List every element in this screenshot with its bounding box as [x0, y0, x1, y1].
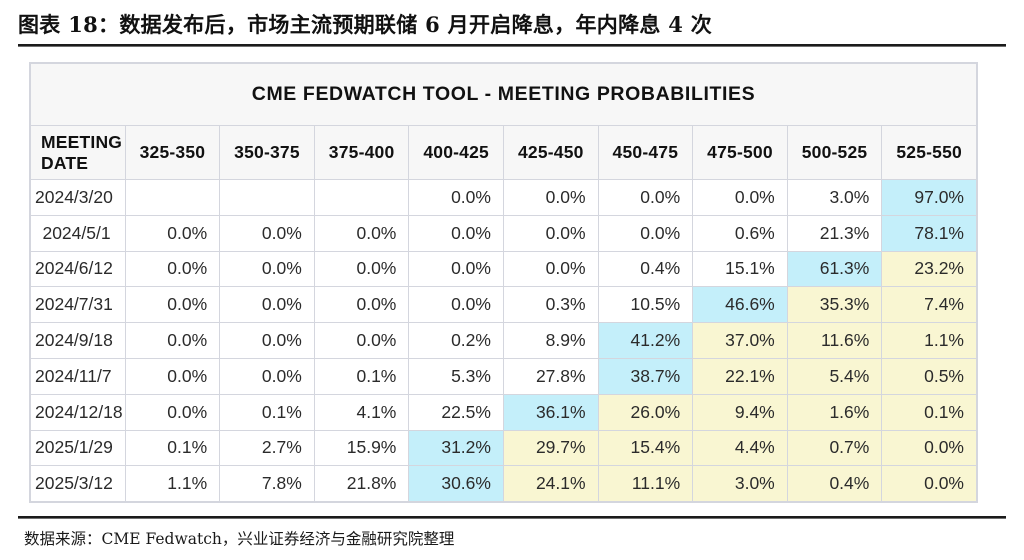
- table-column-header: MEETING DATE325-350350-375375-400400-425…: [31, 126, 977, 180]
- meeting-date-cell: 2024/12/18: [31, 394, 126, 430]
- probability-cell: 0.0%: [125, 358, 220, 394]
- probability-cell: 38.7%: [598, 358, 693, 394]
- probability-cell: 0.0%: [220, 251, 315, 287]
- source-note: 数据来源：CME Fedwatch，兴业证券经济与金融研究院整理: [24, 527, 454, 549]
- probability-cell: 15.1%: [693, 251, 788, 287]
- probability-cell: 0.0%: [598, 180, 693, 216]
- table-body: 2024/3/200.0%0.0%0.0%0.0%3.0%97.0%2024/5…: [31, 180, 977, 502]
- probability-cell: 5.3%: [409, 358, 504, 394]
- probability-cell: 41.2%: [598, 323, 693, 359]
- table-row: 2024/9/180.0%0.0%0.0%0.2%8.9%41.2%37.0%1…: [31, 323, 977, 359]
- probability-cell: 7.8%: [220, 466, 315, 502]
- probability-cell: 0.0%: [314, 215, 409, 251]
- probability-cell: 0.0%: [125, 394, 220, 430]
- probability-cell: 15.9%: [314, 430, 409, 466]
- probability-cell: 0.0%: [125, 287, 220, 323]
- probability-cell: 0.1%: [220, 394, 315, 430]
- table-row: 2024/6/120.0%0.0%0.0%0.0%0.0%0.4%15.1%61…: [31, 251, 977, 287]
- column-header-450-475[interactable]: 450-475: [598, 126, 693, 180]
- title-divider: [18, 44, 1006, 47]
- column-header-row: MEETING DATE325-350350-375375-400400-425…: [31, 126, 977, 180]
- probability-cell: 0.0%: [882, 466, 977, 502]
- probability-cell: 0.0%: [503, 251, 598, 287]
- probability-cell: 78.1%: [882, 215, 977, 251]
- probability-cell: 21.8%: [314, 466, 409, 502]
- column-header-475-500[interactable]: 475-500: [693, 126, 788, 180]
- probability-cell: 37.0%: [693, 323, 788, 359]
- footer-divider: [18, 516, 1006, 519]
- column-header-500-525[interactable]: 500-525: [787, 126, 882, 180]
- probability-cell: 0.3%: [503, 287, 598, 323]
- probability-cell: 0.0%: [220, 215, 315, 251]
- probability-cell: 0.0%: [409, 180, 504, 216]
- column-header-425-450[interactable]: 425-450: [503, 126, 598, 180]
- probability-cell: 0.0%: [409, 251, 504, 287]
- meeting-date-cell: 2024/6/12: [31, 251, 126, 287]
- probability-cell: 0.4%: [598, 251, 693, 287]
- probability-cell: 11.1%: [598, 466, 693, 502]
- figure-page: 图表 18：数据发布后，市场主流预期联储 6 月开启降息，年内降息 4 次 CM…: [0, 0, 1024, 560]
- probability-cell: 0.4%: [787, 466, 882, 502]
- probability-cell: 8.9%: [503, 323, 598, 359]
- probability-cell: 0.0%: [125, 251, 220, 287]
- probability-cell: 4.1%: [314, 394, 409, 430]
- probability-cell: 0.7%: [787, 430, 882, 466]
- probability-cell: 0.0%: [598, 215, 693, 251]
- probability-cell: 61.3%: [787, 251, 882, 287]
- probability-cell: 0.1%: [125, 430, 220, 466]
- probability-cell: 26.0%: [598, 394, 693, 430]
- meeting-date-cell: 2024/5/1: [31, 215, 126, 251]
- probability-cell: 0.1%: [882, 394, 977, 430]
- probability-cell: 0.5%: [882, 358, 977, 394]
- meeting-date-cell: 2025/1/29: [31, 430, 126, 466]
- probability-cell: 2.7%: [220, 430, 315, 466]
- probability-cell: 3.0%: [787, 180, 882, 216]
- probability-cell: 5.4%: [787, 358, 882, 394]
- banner-row: CME FEDWATCH TOOL - MEETING PROBABILITIE…: [31, 64, 977, 126]
- probability-cell: 0.0%: [220, 287, 315, 323]
- probability-cell: 31.2%: [409, 430, 504, 466]
- probability-cell: 1.6%: [787, 394, 882, 430]
- meeting-date-cell: 2025/3/12: [31, 466, 126, 502]
- column-header-meeting-date[interactable]: MEETING DATE: [31, 126, 126, 180]
- fedwatch-table-container: CME FEDWATCH TOOL - MEETING PROBABILITIE…: [29, 62, 978, 503]
- probability-cell: 22.5%: [409, 394, 504, 430]
- figure-title: 图表 18：数据发布后，市场主流预期联储 6 月开启降息，年内降息 4 次: [18, 9, 1008, 39]
- probability-cell: 0.0%: [125, 323, 220, 359]
- probability-cell: 97.0%: [882, 180, 977, 216]
- column-header-325-350[interactable]: 325-350: [125, 126, 220, 180]
- table-row: 2025/1/290.1%2.7%15.9%31.2%29.7%15.4%4.4…: [31, 430, 977, 466]
- table-row: 2024/3/200.0%0.0%0.0%0.0%3.0%97.0%: [31, 180, 977, 216]
- table-row: 2024/5/10.0%0.0%0.0%0.0%0.0%0.0%0.6%21.3…: [31, 215, 977, 251]
- probability-cell: 10.5%: [598, 287, 693, 323]
- probability-cell: 30.6%: [409, 466, 504, 502]
- column-header-350-375[interactable]: 350-375: [220, 126, 315, 180]
- probability-cell: 29.7%: [503, 430, 598, 466]
- probability-cell: 0.0%: [409, 287, 504, 323]
- probability-cell: [314, 180, 409, 216]
- probability-cell: 3.0%: [693, 466, 788, 502]
- probability-cell: 9.4%: [693, 394, 788, 430]
- table-row: 2024/12/180.0%0.1%4.1%22.5%36.1%26.0%9.4…: [31, 394, 977, 430]
- probability-cell: 4.4%: [693, 430, 788, 466]
- meeting-date-cell: 2024/3/20: [31, 180, 126, 216]
- probability-cell: 1.1%: [125, 466, 220, 502]
- probability-cell: 27.8%: [503, 358, 598, 394]
- meeting-date-cell: 2024/9/18: [31, 323, 126, 359]
- column-header-525-550[interactable]: 525-550: [882, 126, 977, 180]
- probability-cell: 7.4%: [882, 287, 977, 323]
- probability-cell: 0.0%: [882, 430, 977, 466]
- probability-cell: 0.0%: [503, 180, 598, 216]
- probability-cell: 46.6%: [693, 287, 788, 323]
- probability-cell: 0.0%: [693, 180, 788, 216]
- probability-cell: 0.0%: [125, 215, 220, 251]
- probability-cell: 0.0%: [220, 358, 315, 394]
- table-banner-header: CME FEDWATCH TOOL - MEETING PROBABILITIE…: [31, 64, 977, 126]
- probability-cell: 0.0%: [409, 215, 504, 251]
- probability-cell: 0.0%: [220, 323, 315, 359]
- probability-cell: 23.2%: [882, 251, 977, 287]
- column-header-400-425[interactable]: 400-425: [409, 126, 504, 180]
- table-banner-title: CME FEDWATCH TOOL - MEETING PROBABILITIE…: [31, 64, 977, 126]
- probability-cell: 15.4%: [598, 430, 693, 466]
- probability-cell: 0.1%: [314, 358, 409, 394]
- probability-cell: [125, 180, 220, 216]
- fedwatch-probabilities-table: CME FEDWATCH TOOL - MEETING PROBABILITIE…: [30, 63, 977, 502]
- probability-cell: 21.3%: [787, 215, 882, 251]
- probability-cell: 0.0%: [503, 215, 598, 251]
- probability-cell: 0.0%: [314, 287, 409, 323]
- meeting-date-cell: 2024/7/31: [31, 287, 126, 323]
- probability-cell: 0.2%: [409, 323, 504, 359]
- probability-cell: 24.1%: [503, 466, 598, 502]
- probability-cell: 0.6%: [693, 215, 788, 251]
- probability-cell: 0.0%: [314, 323, 409, 359]
- probability-cell: 35.3%: [787, 287, 882, 323]
- probability-cell: 11.6%: [787, 323, 882, 359]
- probability-cell: 36.1%: [503, 394, 598, 430]
- table-row: 2024/7/310.0%0.0%0.0%0.0%0.3%10.5%46.6%3…: [31, 287, 977, 323]
- table-row: 2024/11/70.0%0.0%0.1%5.3%27.8%38.7%22.1%…: [31, 358, 977, 394]
- probability-cell: 0.0%: [314, 251, 409, 287]
- meeting-date-cell: 2024/11/7: [31, 358, 126, 394]
- table-row: 2025/3/121.1%7.8%21.8%30.6%24.1%11.1%3.0…: [31, 466, 977, 502]
- probability-cell: 22.1%: [693, 358, 788, 394]
- probability-cell: 1.1%: [882, 323, 977, 359]
- probability-cell: [220, 180, 315, 216]
- column-header-375-400[interactable]: 375-400: [314, 126, 409, 180]
